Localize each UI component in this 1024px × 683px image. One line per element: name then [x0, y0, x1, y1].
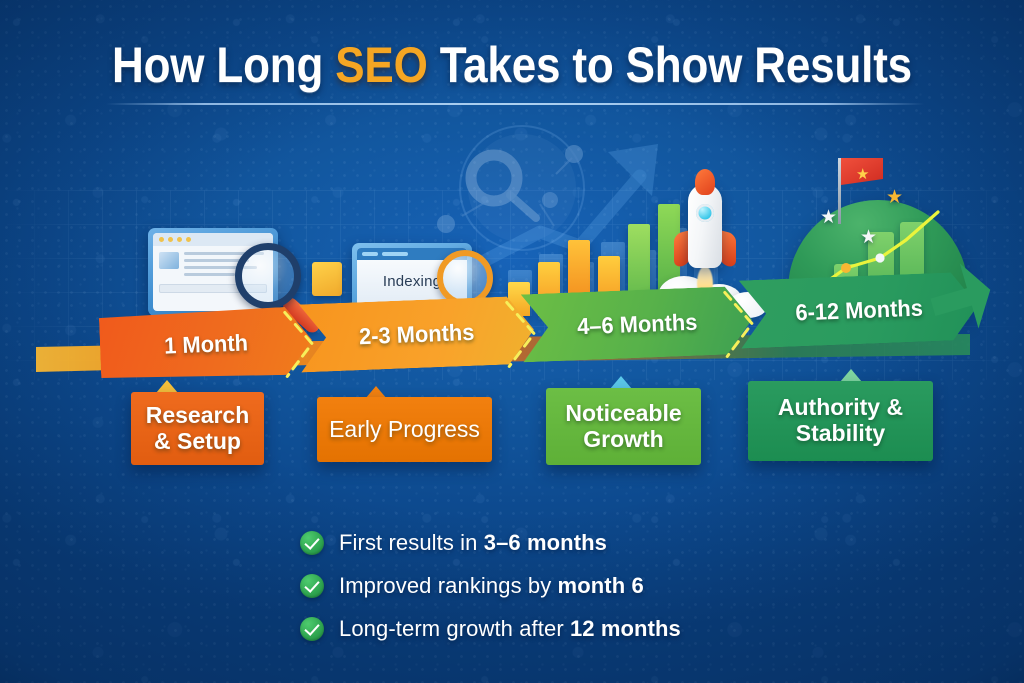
star-icon: ★	[886, 188, 903, 207]
list-item: Improved rankings by month 6	[300, 564, 820, 607]
stage-card-2[interactable]: Early Progress	[317, 397, 492, 462]
key-takeaways-list: First results in 3–6 monthsImproved rank…	[300, 521, 820, 650]
stage-card-1[interactable]: Research& Setup	[131, 392, 264, 465]
stage-card-label: Authority &Stability	[770, 395, 911, 447]
list-item-text: Long-term growth after 12 months	[339, 616, 681, 642]
list-item: Long-term growth after 12 months	[300, 607, 820, 650]
star-icon: ★	[860, 228, 877, 247]
check-circle-icon	[300, 617, 324, 641]
flag-star-icon: ★	[856, 167, 869, 182]
list-item: First results in 3–6 months	[300, 521, 820, 564]
stage-card-4[interactable]: Authority &Stability	[748, 381, 933, 461]
timeline-segment-3[interactable]: 4–6 Months	[521, 286, 753, 363]
timeline-segment-1[interactable]: 1 Month	[99, 306, 313, 382]
star-icon: ★	[820, 208, 837, 227]
flag-pole	[838, 158, 841, 224]
stage-card-label: NoticeableGrowth	[557, 401, 689, 453]
timeline-period-label: 6-12 Months	[795, 294, 923, 326]
timeline-period-label: 4–6 Months	[576, 308, 697, 340]
timeline-ribbon: 1 Month2-3 Months4–6 Months6-12 Months	[0, 262, 1024, 382]
check-circle-icon	[300, 574, 324, 598]
ribbon-band: 1 Month2-3 Months4–6 Months6-12 Months	[0, 262, 1024, 372]
stage-card-label: Research& Setup	[138, 403, 258, 455]
timeline-period-label: 2-3 Months	[359, 318, 475, 349]
check-circle-icon	[300, 531, 324, 555]
timeline-period-label: 1 Month	[164, 329, 249, 359]
timeline-segment-2[interactable]: 2-3 Months	[299, 296, 535, 373]
stage-card-label: Early Progress	[321, 417, 488, 443]
list-item-text: Improved rankings by month 6	[339, 573, 644, 599]
stage-card-3[interactable]: NoticeableGrowth	[546, 388, 701, 465]
infographic-canvas: How Long SEO Takes to Show Results In	[0, 0, 1024, 683]
list-item-text: First results in 3–6 months	[339, 530, 607, 556]
